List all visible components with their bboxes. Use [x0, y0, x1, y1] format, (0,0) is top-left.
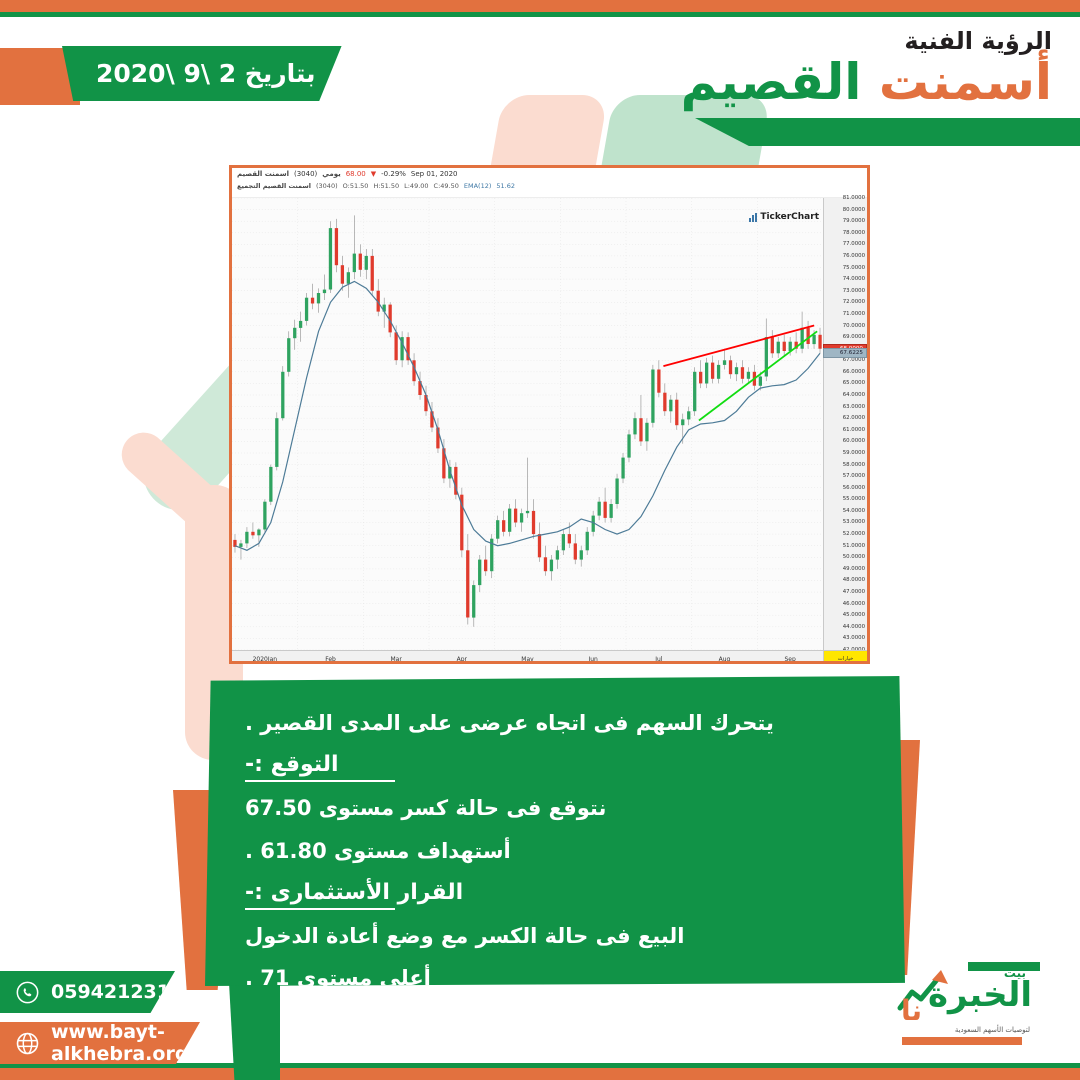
date-badge: بتاريخ 2 \9 \2020 [62, 46, 342, 101]
page-subtitle: الرؤية الفنية [681, 28, 1052, 54]
chart-high: H:51.50 [373, 182, 399, 190]
chart-last-price: 68.00 [346, 170, 366, 178]
price-tick: 78.0000 [843, 230, 865, 236]
price-tick: 70.0000 [843, 323, 865, 329]
top-green-rule [0, 12, 1080, 17]
support-trendline [699, 331, 817, 420]
top-orange-rule [0, 0, 1080, 12]
time-tick: Jul [655, 656, 662, 663]
bottom-orange-rule [0, 1068, 1080, 1080]
analysis-summary: يتحرك السهم فى اتجاه عرضى على المدى القص… [245, 710, 774, 736]
forecast-line-2: أستهداف مستوى 61.80 . [245, 838, 511, 864]
website-url: www.bayt-alkhebra.org [51, 1021, 188, 1065]
whatsapp-icon [16, 981, 39, 1004]
price-tick: 55.0000 [843, 496, 865, 502]
page-title-orange: أسمنت [879, 53, 1052, 111]
chart-low: L:49.00 [404, 182, 428, 190]
chart-plot-wrapper: TickerChart 81.000080.000079.000078.0000… [232, 198, 867, 664]
chart-open: O:51.50 [343, 182, 369, 190]
whatsapp-number: 0594212312 [51, 981, 183, 1003]
price-tick: 48.0000 [843, 577, 865, 583]
price-tick: 59.0000 [843, 450, 865, 456]
title-block: الرؤية الفنية أسمنت القصيم [681, 28, 1052, 109]
price-tick: 71.0000 [843, 311, 865, 317]
chart-quote-line: اسمنت القصيم (3040) يومي 68.00 ▼ -0.29% … [237, 170, 458, 178]
chart-ema-value: 51.62 [496, 182, 515, 190]
decision-heading-underline [245, 908, 395, 910]
price-tick: 76.0000 [843, 253, 865, 259]
tickerchart-mark-icon [749, 213, 758, 222]
price-tick: 72.0000 [843, 299, 865, 305]
time-tick: Sep [784, 656, 795, 663]
chart-ohlc-line: اسمنت القصيم التجميع (3040) O:51.50 H:51… [237, 182, 515, 190]
price-tick: 60.0000 [843, 438, 865, 444]
price-tick: 61.0000 [843, 427, 865, 433]
logo-accent-word: نا [901, 994, 922, 1027]
chart-close: C:49.50 [434, 182, 459, 190]
price-tick: 73.0000 [843, 288, 865, 294]
price-tick: 54.0000 [843, 508, 865, 514]
price-tick: 44.0000 [843, 624, 865, 630]
time-tick: 2020Jan [253, 656, 278, 663]
price-tick: 65.0000 [843, 380, 865, 386]
logo-orange-bar [902, 1037, 1022, 1045]
time-tick: Mar [391, 656, 402, 663]
candlestick-svg [232, 198, 823, 650]
price-tick: 62.0000 [843, 415, 865, 421]
whatsapp-contact[interactable]: 0594212312 [0, 971, 175, 1013]
price-tick: 69.0000 [843, 334, 865, 340]
price-tick: 49.0000 [843, 566, 865, 572]
price-tick: 79.0000 [843, 218, 865, 224]
time-axis[interactable]: 2020JanFebMarAprMayJunJulAugSep [232, 650, 823, 664]
chart-plot-area[interactable] [232, 198, 823, 650]
ema-price-label: 67.6225 [823, 348, 867, 358]
chart-panel: اسمنت القصيم (3040) يومي 68.00 ▼ -0.29% … [229, 165, 870, 664]
chart-gridlines [232, 198, 823, 650]
logo-main-word: الخبرة [928, 978, 1032, 1012]
website-contact[interactable]: www.bayt-alkhebra.org [0, 1022, 200, 1064]
time-tick: Feb [325, 656, 336, 663]
globe-icon [16, 1032, 39, 1055]
chart-down-arrow-icon: ▼ [371, 170, 376, 178]
price-tick: 45.0000 [843, 612, 865, 618]
chart-header: اسمنت القصيم (3040) يومي 68.00 ▼ -0.29% … [232, 168, 867, 198]
price-axis[interactable]: 81.000080.000079.000078.000077.000076.00… [823, 198, 867, 650]
chart-symbol-name: اسمنت القصيم [237, 170, 289, 178]
chart-period: يومي [322, 170, 340, 178]
page-title-green: القصيم [681, 53, 862, 111]
price-tick: 43.0000 [843, 635, 865, 641]
time-tick: Jun [588, 656, 597, 663]
forecast-heading: التوقع :- [245, 752, 339, 777]
forecast-heading-underline [245, 780, 395, 782]
price-tick: 47.0000 [843, 589, 865, 595]
price-tick: 56.0000 [843, 485, 865, 491]
chart-symbol-code: (3040) [294, 170, 317, 178]
chart-volume-series-name: اسمنت القصيم التجميع [237, 182, 311, 190]
decision-heading-block: القرار الأستثمارى :- [245, 880, 463, 923]
chart-ema-label: EMA(12) [464, 182, 492, 190]
decision-line-1: البيع فى حالة الكسر مع وضع أعادة الدخول [245, 923, 685, 949]
analysis-panel: يتحرك السهم فى اتجاه عرضى على المدى القص… [205, 676, 905, 986]
chart-quote-date: Sep 01, 2020 [411, 170, 458, 178]
price-tick: 80.0000 [843, 207, 865, 213]
price-tick: 50.0000 [843, 554, 865, 560]
chart-ohlc-symbol: (3040) [316, 182, 338, 190]
header-green-swoosh [695, 118, 1080, 146]
tickerchart-logo-text: TickerChart [760, 212, 819, 222]
price-tick: 58.0000 [843, 462, 865, 468]
time-tick: Apr [457, 656, 467, 663]
candlestick-series [233, 215, 821, 626]
chart-change-percent: -0.29% [381, 170, 406, 178]
logo-tagline: لتوصيات الأسهم السعودية [955, 1026, 1030, 1034]
chart-options-button[interactable]: خيارات [823, 650, 867, 664]
price-tick: 81.0000 [843, 195, 865, 201]
price-tick: 66.0000 [843, 369, 865, 375]
price-tick: 67.0000 [843, 357, 865, 363]
forecast-line-1: نتوقع فى حالة كسر مستوى 67.50 [245, 795, 606, 821]
price-tick: 75.0000 [843, 265, 865, 271]
brand-logo: بيت الخبرة نا لتوصيات الأسهم السعودية [850, 960, 1040, 1052]
tickerchart-logo: TickerChart [749, 212, 819, 222]
decision-heading: القرار الأستثمارى :- [245, 880, 463, 905]
price-tick: 57.0000 [843, 473, 865, 479]
page-title: أسمنت القصيم [681, 56, 1052, 109]
price-tick: 63.0000 [843, 404, 865, 410]
forecast-heading-block: التوقع :- [245, 752, 395, 795]
price-tick: 52.0000 [843, 531, 865, 537]
time-tick: May [521, 656, 533, 663]
price-tick: 46.0000 [843, 601, 865, 607]
price-tick: 51.0000 [843, 543, 865, 549]
price-tick: 77.0000 [843, 241, 865, 247]
time-tick: Aug [719, 656, 731, 663]
price-tick: 53.0000 [843, 519, 865, 525]
price-tick: 64.0000 [843, 392, 865, 398]
price-tick: 74.0000 [843, 276, 865, 282]
